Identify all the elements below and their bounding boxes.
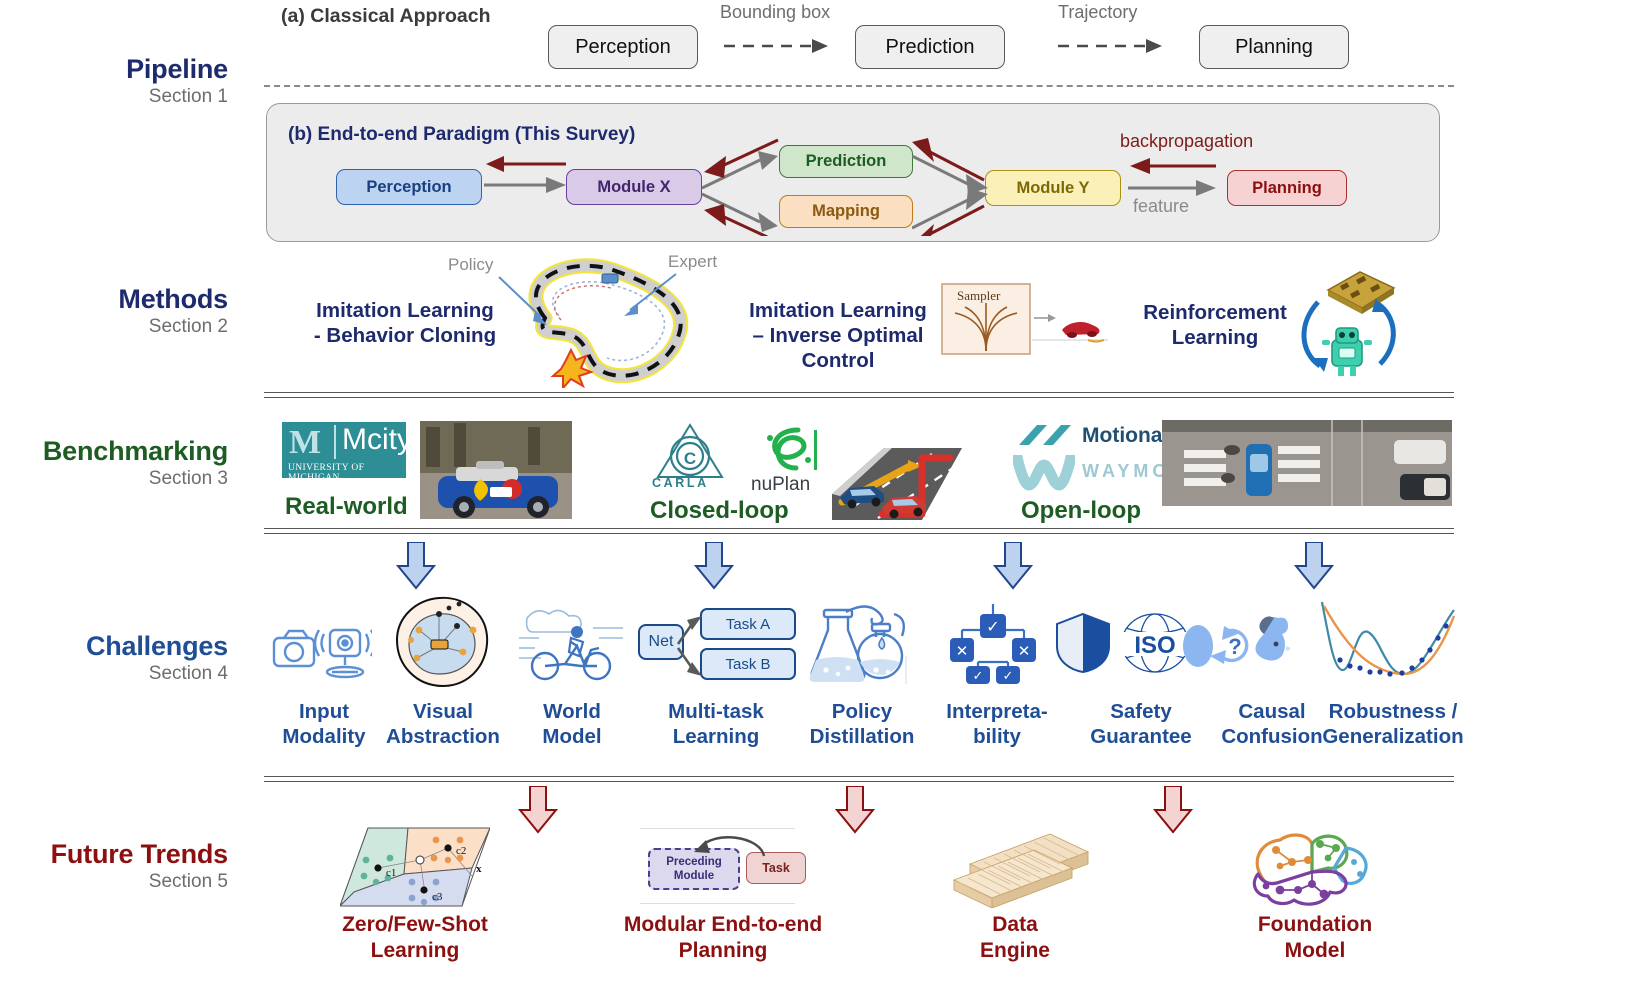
box-label: Planning [1252,179,1322,198]
down-arrow-icon [1294,542,1334,590]
mcity-city-text: Mcity [342,424,406,456]
line-1: World [543,700,601,723]
mcity-test-vehicle-photo [420,421,572,519]
method-label-reinforcement: ReinforcementLearning [1133,300,1297,350]
box-label: Module X [597,178,670,197]
multitask-task-b-node: Task B [700,648,796,680]
trajectory-label: Trajectory [1058,2,1137,23]
line-1: Multi-task [668,700,764,723]
data-stack-icon [940,824,1090,908]
multitask-task-a-node: Task A [700,608,796,640]
line-1: Modular End-to-end [624,913,822,936]
box-label: Planning [1235,36,1313,59]
ioc-car-icon [1032,300,1110,348]
line-3: Control [802,349,875,372]
line-1: Imitation Learning [749,299,927,322]
line-2: Model [1285,939,1346,962]
line-2: Model [542,725,601,748]
down-arrow-icon [518,786,558,834]
modulex-branch-arrows-icon [700,136,782,236]
future-label-modular-planning: Modular End-to-endPlanning [608,912,838,963]
rule-methods-benchmarking [264,392,1454,398]
line-2: Engine [980,939,1050,962]
line-1: Causal [1238,700,1305,723]
row-title: Challenges [0,632,228,660]
shield-icon [1055,612,1111,674]
classical-box-prediction: Prediction [855,25,1005,69]
challenge-label-interpretability: Interpreta-bility [917,700,1077,749]
dashed-arrow-bounding-box-icon [724,32,834,60]
row-title: Methods [0,285,228,313]
down-arrow-icon [694,542,734,590]
brain-network-icon [1250,828,1380,908]
box-label: Prediction [806,152,887,171]
line-2: Modality [282,725,365,748]
carla-logo-text: CARLA [652,476,709,490]
endtoend-caption: (b) End-to-end Paradigm (This Survey) [288,124,635,146]
line-1: Foundation [1258,913,1372,936]
future-label-zero-few-shot: Zero/Few-ShotLearning [300,912,530,963]
line-2: Abstraction [386,725,500,748]
cluster-label-c2: c2 [456,845,466,857]
egg-chicken-question-icon: ? [1180,612,1290,674]
down-arrow-icon [396,542,436,590]
mcity-divider [334,425,336,459]
cluster-label-c3: c3 [432,891,443,903]
row-section: Section 4 [0,663,228,685]
down-arrow-icon [993,542,1033,590]
motional-logo-icon [1017,423,1075,453]
closed-loop-simulation-illustration [824,422,962,520]
question-mark-text: ? [1228,634,1241,659]
classical-approach-caption: (a) Classical Approach [281,5,491,28]
perception-modulex-arrows-icon [480,152,576,208]
line-1: Policy [832,700,892,723]
line-2: Learning [1172,326,1259,349]
row-label-methods: Methods Section 2 [0,285,228,338]
row-title: Benchmarking [0,437,228,465]
benchmark-label-closed-loop: Closed-loop [650,497,789,525]
classical-box-planning: Planning [1199,25,1349,69]
cluster-label-c1: c1 [386,867,396,879]
e2e-box-prediction: Prediction [779,145,913,178]
loop-arrow-icon [690,832,770,860]
line-1: Reinforcement [1143,301,1287,324]
line-1: Safety [1110,700,1172,723]
figure-canvas: Pipeline Section 1 Methods Section 2 Ben… [0,0,1628,1004]
challenge-label-multi-task-learning: Multi-taskLearning [636,700,796,749]
line-2: Generalization [1322,725,1463,748]
line-2: Planning [679,939,768,962]
waymo-logo-icon [1013,455,1075,491]
row-title: Future Trends [0,840,228,868]
rule-benchmarking-challenges [264,528,1454,534]
mcity-logo: M Mcity UNIVERSITY OF MICHIGAN [282,422,406,478]
pipeline-dashed-separator [264,85,1454,87]
overfitting-curve-icon [1316,596,1458,688]
box-label: Perception [366,178,451,197]
motional-logo-text: Motional [1082,424,1168,448]
camera-lidar-icon [272,618,372,684]
line-1: Imitation Learning [316,299,494,322]
svg-text:✕: ✕ [956,643,969,660]
line-2: Distillation [810,725,915,748]
benchmark-label-open-loop: Open-loop [1021,497,1141,525]
svg-text:✓: ✓ [973,668,984,683]
waymo-logo-text: WAYMO [1082,461,1170,482]
expert-leader-line-icon [620,272,678,318]
row-section: Section 1 [0,86,228,108]
benchmark-label-real-world: Real-world [285,493,408,521]
backpropagation-label: backpropagation [1120,131,1253,152]
nuplan-logo-text: nuPlan [751,474,810,496]
line-2: Guarantee [1090,725,1191,748]
nuplan-logo-icon [760,424,818,478]
task-a-label: Task A [702,610,794,638]
line-1: Visual [413,700,473,723]
cyclist-world-model-icon [519,604,625,682]
svg-text:✕: ✕ [1018,643,1031,660]
classical-box-perception: Perception [548,25,698,69]
row-section: Section 3 [0,468,228,490]
open-loop-birdseye-intersection-photo [1162,420,1452,506]
cluster-label-x: x [476,863,482,875]
down-arrow-icon [1153,786,1193,834]
branch-moduley-arrows-icon [912,136,992,236]
box-label: Perception [575,36,671,59]
prototype-clusters-icon: c1 c2 c3 x [340,824,490,910]
e2e-box-mapping: Mapping [779,195,913,228]
expert-annotation-label: Expert [668,252,717,272]
line-1: Data [992,913,1038,936]
policy-annotation-label: Policy [448,255,493,275]
box-label: Prediction [886,36,975,59]
mcity-university-text: UNIVERSITY OF MICHIGAN [288,463,406,478]
line-2: - Behavior Cloning [314,324,496,347]
future-label-foundation-model: FoundationModel [1200,912,1430,963]
row-title: Pipeline [0,55,228,83]
feature-label: feature [1133,196,1189,217]
iso-badge-text: ISO [1134,632,1175,659]
line-1: Input [299,700,349,723]
mcity-m-glyph: M [289,426,321,460]
svg-text:✓: ✓ [986,619,999,636]
row-section: Section 2 [0,316,228,338]
distillation-flask-icon [806,600,914,684]
row-label-challenges: Challenges Section 4 [0,632,228,685]
line-2: bility [973,725,1021,748]
row-label-pipeline: Pipeline Section 1 [0,55,228,108]
line-1: Robustness / [1329,700,1458,723]
line-1: Zero/Few-Shot [342,913,488,936]
future-label-data-engine: DataEngine [900,912,1130,963]
row-section: Section 5 [0,871,228,893]
method-label-imitation-bc: Imitation Learning- Behavior Cloning [300,298,510,348]
row-label-benchmarking: Benchmarking Section 3 [0,437,228,490]
task-b-label: Task B [702,650,794,678]
line-2: Learning [673,725,760,748]
sampler-label: Sampler [957,288,1000,304]
dashed-arrow-trajectory-icon [1058,32,1168,60]
e2e-box-planning: Planning [1227,170,1347,206]
bounding-box-label: Bounding box [720,2,830,23]
down-arrow-icon [835,786,875,834]
svg-text:✓: ✓ [1003,668,1014,683]
e2e-box-module-x: Module X [566,169,702,205]
method-label-imitation-ioc: Imitation Learning– Inverse OptimalContr… [732,298,944,373]
abstraction-graph-icon [393,596,493,688]
rule-challenges-future [264,776,1454,782]
e2e-box-module-y: Module Y [985,170,1121,206]
line-2: Learning [371,939,460,962]
row-label-future-trends: Future Trends Section 5 [0,840,228,893]
challenge-label-world-model: WorldModel [492,700,652,749]
multitask-branch-arrows-icon [676,610,706,680]
box-label: Mapping [812,202,880,221]
challenge-label-robustness-generalization: Robustness /Generalization [1308,700,1478,749]
svg-text:C: C [684,449,696,468]
line-1: Interpreta- [946,700,1047,723]
decision-tree-icon: ✓ ✕ ✕ ✓ ✓ [948,600,1038,684]
line-2: – Inverse Optimal [753,324,924,347]
e2e-box-perception: Perception [336,169,482,205]
robot-reward-loop-icon [1288,268,1400,380]
box-label: Module Y [1016,179,1089,198]
